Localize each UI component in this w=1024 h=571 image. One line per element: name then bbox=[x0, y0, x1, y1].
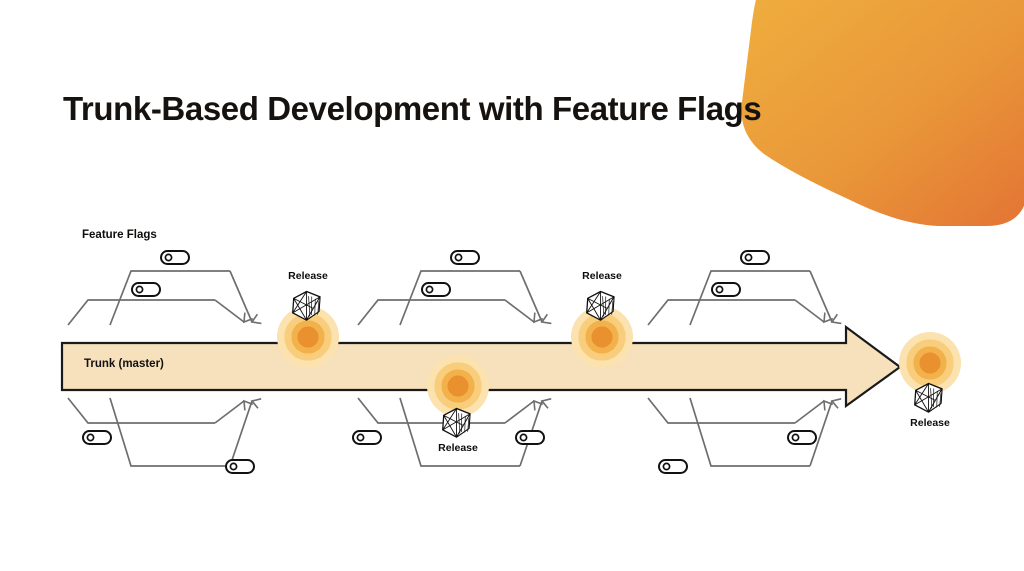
feature-flag-toggle[interactable] bbox=[160, 250, 190, 265]
release-polyhedron-icon bbox=[434, 403, 478, 447]
release-marker[interactable]: Release bbox=[276, 270, 340, 370]
release-polyhedron-icon bbox=[578, 286, 622, 330]
top-branch-outer-3 bbox=[690, 271, 832, 325]
release-label: Release bbox=[898, 417, 962, 429]
release-polyhedron-icon bbox=[906, 378, 950, 422]
feature-flag-toggle[interactable] bbox=[711, 282, 741, 297]
release-label: Release bbox=[426, 442, 490, 454]
feature-flag-toggle[interactable] bbox=[515, 430, 545, 445]
release-marker[interactable]: Release bbox=[570, 270, 634, 370]
top-branch-outer-2 bbox=[400, 271, 542, 325]
release-label: Release bbox=[276, 270, 340, 282]
bottom-branch-outer-1 bbox=[110, 398, 252, 466]
feature-flag-toggle[interactable] bbox=[658, 459, 688, 474]
feature-flag-toggle[interactable] bbox=[740, 250, 770, 265]
top-branch-inner-3 bbox=[648, 300, 824, 325]
trunk-label: Trunk (master) bbox=[84, 358, 164, 370]
feature-flag-toggle[interactable] bbox=[82, 430, 112, 445]
feature-flag-toggle[interactable] bbox=[787, 430, 817, 445]
top-branch-outer-1 bbox=[110, 271, 252, 325]
feature-flag-toggle[interactable] bbox=[225, 459, 255, 474]
release-marker[interactable]: Release bbox=[426, 355, 490, 460]
bottom-branch-inner-1 bbox=[68, 398, 244, 423]
release-label: Release bbox=[570, 270, 634, 282]
top-branch-inner-1 bbox=[68, 300, 244, 325]
feature-flag-toggle[interactable] bbox=[352, 430, 382, 445]
feature-flag-toggle[interactable] bbox=[131, 282, 161, 297]
release-polyhedron-icon bbox=[284, 286, 328, 330]
feature-flag-toggle[interactable] bbox=[450, 250, 480, 265]
top-branch-inner-2 bbox=[358, 300, 534, 325]
release-marker[interactable]: Release bbox=[898, 332, 962, 437]
feature-flag-toggle[interactable] bbox=[421, 282, 451, 297]
slide-canvas: Trunk-Based Development with Feature Fla… bbox=[0, 0, 1024, 571]
bottom-branch-inner-3 bbox=[648, 398, 824, 423]
